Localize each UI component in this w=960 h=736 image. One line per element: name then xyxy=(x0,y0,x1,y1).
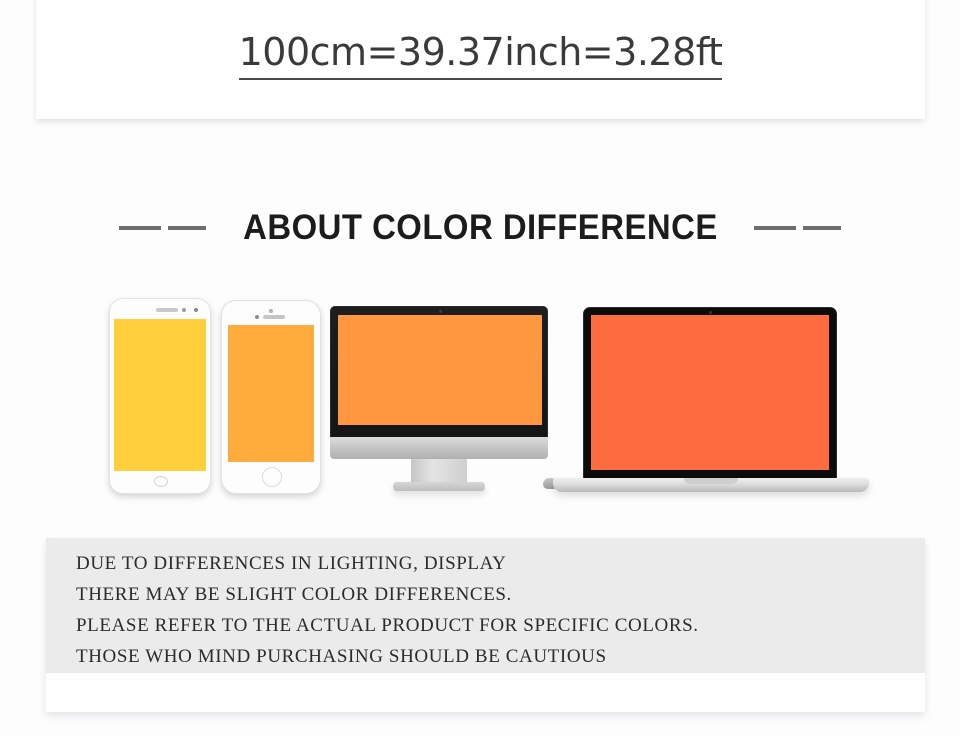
heading-dashes-right xyxy=(754,226,841,230)
dash-icon xyxy=(754,226,796,230)
dash-icon xyxy=(168,226,206,230)
device-smartphone-iphone xyxy=(221,300,321,494)
front-camera-icon xyxy=(194,308,198,312)
conversion-wrap: 100cm=39.37inch=3.28ft xyxy=(36,0,925,119)
phone-android-screen xyxy=(114,319,206,471)
conversion-text: 100cm=39.37inch=3.28ft xyxy=(239,33,723,81)
sensor-icon xyxy=(269,309,273,313)
webcam-icon xyxy=(439,310,442,313)
disclaimer-band: DUE TO DIFFERENCES IN LIGHTING, DISPLAY … xyxy=(46,538,925,673)
device-smartphone-android xyxy=(109,298,211,494)
disclaimer-line: PLEASE REFER TO THE ACTUAL PRODUCT FOR S… xyxy=(76,610,925,641)
home-button-icon xyxy=(154,476,168,487)
conversion-card: 100cm=39.37inch=3.28ft xyxy=(36,0,925,119)
device-laptop xyxy=(583,307,837,479)
phone-top-bar xyxy=(110,299,210,319)
heading-dashes-left xyxy=(119,226,206,230)
section-heading-row: ABOUT COLOR DIFFERENCE xyxy=(0,208,960,248)
dash-icon xyxy=(803,226,841,230)
page-root: 100cm=39.37inch=3.28ft ABOUT COLOR DIFFE… xyxy=(0,0,960,736)
disclaimer-line: THOSE WHO MIND PURCHASING SHOULD BE CAUT… xyxy=(76,641,925,672)
monitor-stand-foot xyxy=(393,482,485,491)
dash-icon xyxy=(119,226,161,230)
device-desktop-monitor xyxy=(330,306,548,438)
sensor-icon xyxy=(182,308,186,312)
monitor-chin xyxy=(330,437,548,459)
laptop-screen xyxy=(591,315,829,470)
earpiece-icon xyxy=(156,308,178,312)
laptop-trackpad-notch xyxy=(684,478,738,484)
phone-iphone-screen xyxy=(228,325,314,462)
monitor-screen xyxy=(338,315,542,425)
webcam-icon xyxy=(709,311,712,314)
disclaimer-line: THERE MAY BE SLIGHT COLOR DIFFERENCES. xyxy=(76,579,925,610)
disclaimer-line: DUE TO DIFFERENCES IN LIGHTING, DISPLAY xyxy=(76,548,925,579)
page-title: ABOUT COLOR DIFFERENCE xyxy=(243,208,718,248)
front-camera-icon xyxy=(255,315,259,319)
home-button-icon xyxy=(262,467,282,487)
earpiece-icon xyxy=(263,315,285,319)
